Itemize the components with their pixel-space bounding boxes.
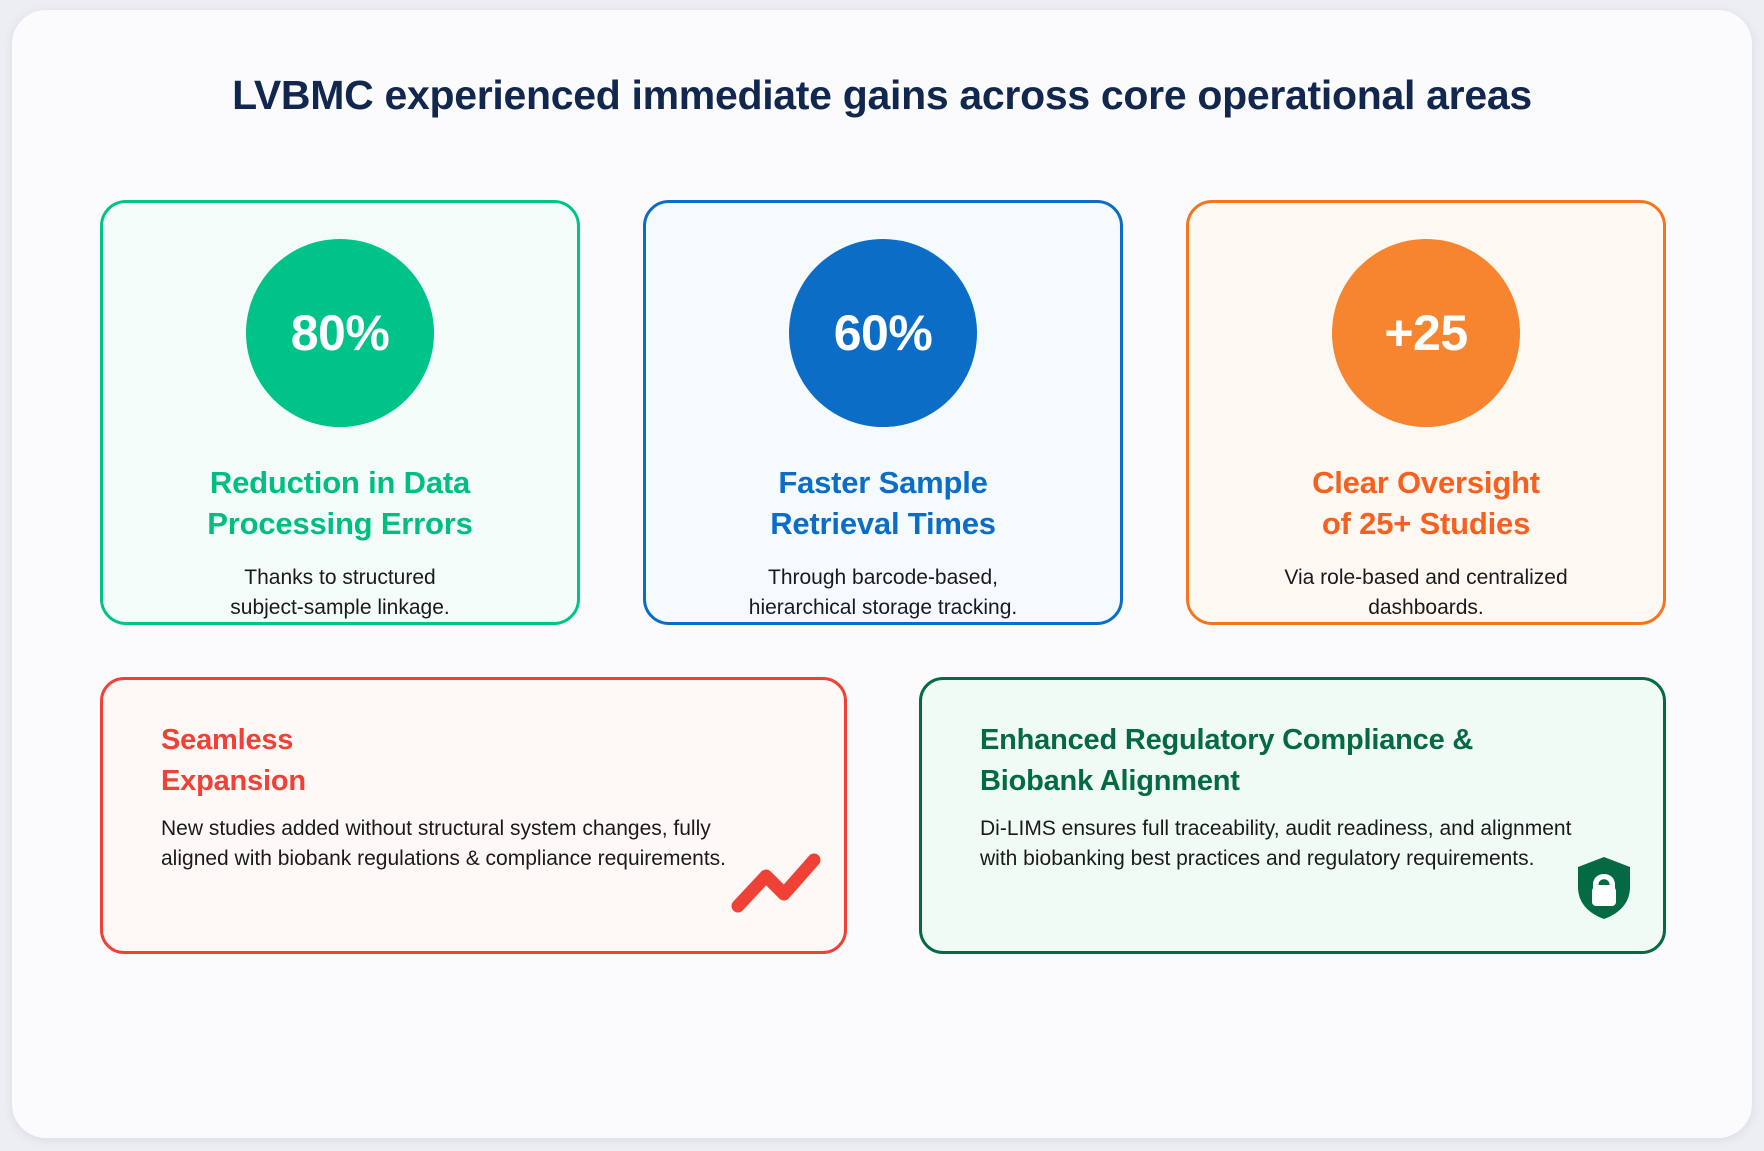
- wide-card-heading: Enhanced Regulatory Compliance & Biobank…: [980, 720, 1621, 802]
- stat-subtext: Via role-based and centralized dashboard…: [1284, 563, 1567, 623]
- infographic-frame: LVBMC experienced immediate gains across…: [12, 10, 1752, 1138]
- stat-heading-line2: of 25+ Studies: [1322, 506, 1530, 541]
- wide-card-enhanced-regulatory-compliance[interactable]: Enhanced Regulatory Compliance & Biobank…: [919, 677, 1666, 954]
- stat-metric-value: +25: [1384, 304, 1467, 362]
- stat-heading: Faster Sample Retrieval Times: [770, 463, 996, 545]
- wide-card-body: Di-LIMS ensures full traceability, audit…: [980, 814, 1600, 874]
- stat-subtext-line2: dashboards.: [1368, 596, 1484, 619]
- trend-line-icon: [730, 850, 822, 919]
- stat-subtext-line1: Through barcode-based,: [768, 566, 998, 589]
- stat-subtext-line2: hierarchical storage tracking.: [749, 596, 1017, 619]
- stat-metric-circle: 80%: [246, 239, 434, 427]
- wide-card-heading: Seamless Expansion: [161, 720, 802, 802]
- stat-heading: Clear Oversight of 25+ Studies: [1312, 463, 1540, 545]
- wide-card-body: New studies added without structural sys…: [161, 814, 781, 874]
- stat-metric-value: 60%: [834, 304, 933, 362]
- page-title: LVBMC experienced immediate gains across…: [12, 72, 1752, 119]
- stat-card-faster-sample-retrieval-times[interactable]: 60% Faster Sample Retrieval Times Throug…: [643, 200, 1123, 625]
- stat-card-clear-oversight-of-studies[interactable]: +25 Clear Oversight of 25+ Studies Via r…: [1186, 200, 1666, 625]
- stat-metric-circle: 60%: [789, 239, 977, 427]
- wide-card-heading-line2: Expansion: [161, 765, 306, 797]
- stat-heading-line2: Processing Errors: [207, 506, 472, 541]
- stat-metric-circle: +25: [1332, 239, 1520, 427]
- wide-card-row: Seamless Expansion New studies added wit…: [100, 677, 1666, 954]
- stat-subtext-line2: subject-sample linkage.: [230, 596, 449, 619]
- stat-heading-line1: Faster Sample: [778, 465, 987, 500]
- stat-subtext-line1: Via role-based and centralized: [1284, 566, 1567, 589]
- stat-subtext: Through barcode-based, hierarchical stor…: [749, 563, 1017, 623]
- stat-subtext: Thanks to structured subject-sample link…: [230, 563, 449, 623]
- stat-heading-line1: Reduction in Data: [210, 465, 470, 500]
- stat-card-reduction-in-data-processing-errors[interactable]: 80% Reduction in Data Processing Errors …: [100, 200, 580, 625]
- stat-heading-line1: Clear Oversight: [1312, 465, 1540, 500]
- wide-card-heading-line1: Seamless: [161, 724, 293, 756]
- shield-lock-icon: [1573, 854, 1635, 927]
- wide-card-heading-line2: Biobank Alignment: [980, 765, 1240, 797]
- stat-heading-line2: Retrieval Times: [770, 506, 996, 541]
- wide-card-seamless-expansion[interactable]: Seamless Expansion New studies added wit…: [100, 677, 847, 954]
- stat-subtext-line1: Thanks to structured: [244, 566, 435, 589]
- wide-card-heading-line1: Enhanced Regulatory Compliance &: [980, 724, 1473, 756]
- stat-heading: Reduction in Data Processing Errors: [207, 463, 472, 545]
- stat-metric-value: 80%: [291, 304, 390, 362]
- stat-card-row: 80% Reduction in Data Processing Errors …: [100, 200, 1666, 625]
